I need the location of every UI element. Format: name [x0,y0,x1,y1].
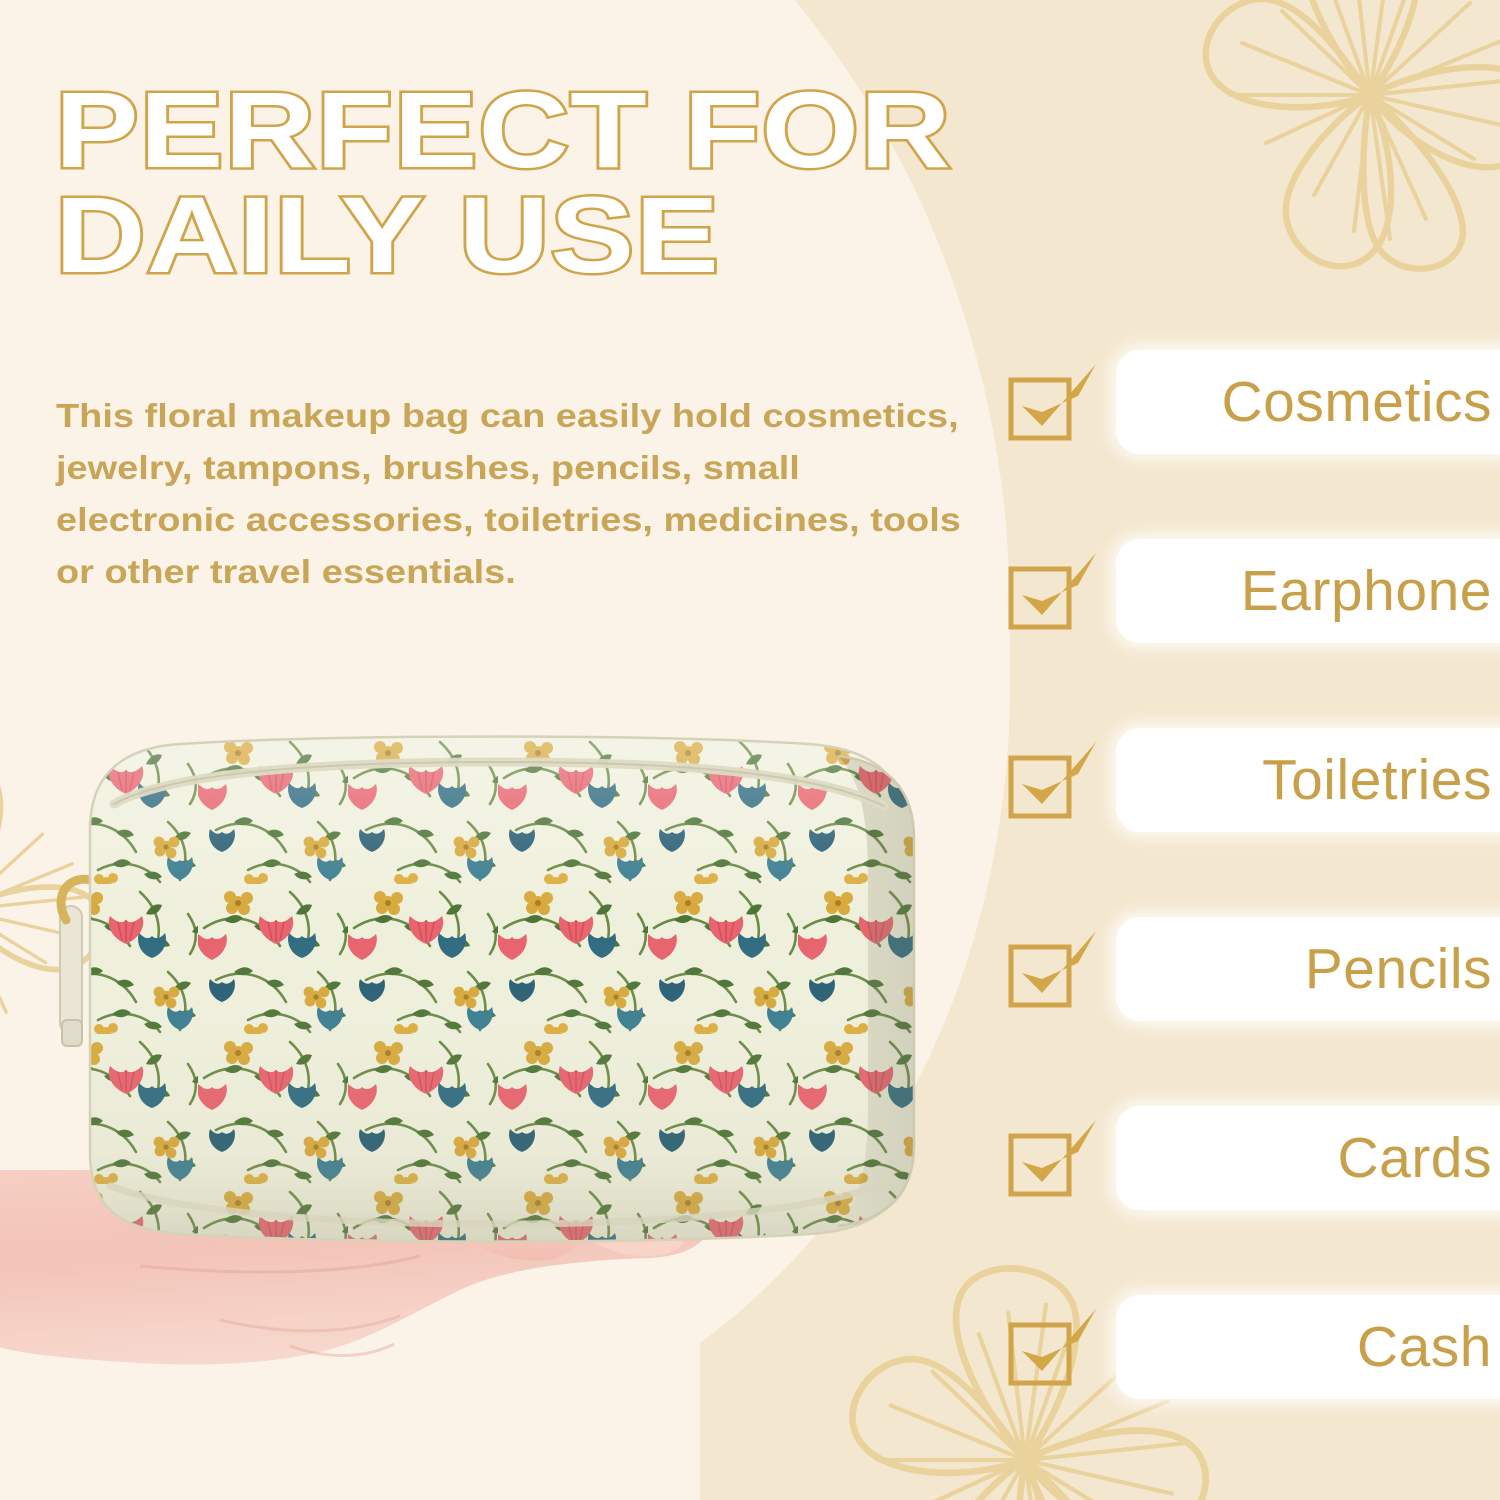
list-item-label: Pencils [1116,917,1500,1021]
product-photo [0,700,990,1500]
list-item[interactable]: Cosmetics [1008,344,1500,533]
makeup-bag [48,734,938,1244]
checked-checkbox-icon[interactable] [1008,551,1100,631]
feature-pill[interactable]: Pencils [1116,917,1500,1021]
bag-body [48,734,938,1244]
checked-checkbox-icon[interactable] [1008,1307,1100,1387]
feature-pill[interactable]: Cosmetics [1116,350,1500,454]
checked-checkbox-icon[interactable] [1008,1118,1100,1198]
list-item[interactable]: Cash [1008,1289,1500,1478]
list-item[interactable]: Cards [1008,1100,1500,1289]
description-text: This floral makeup bag can easily hold c… [56,390,976,599]
list-item-label: Cards [1116,1106,1500,1210]
feature-pill[interactable]: Cards [1116,1106,1500,1210]
checked-checkbox-icon[interactable] [1008,362,1100,442]
list-item[interactable]: Pencils [1008,911,1500,1100]
feature-pill[interactable]: Cash [1116,1295,1500,1399]
checked-checkbox-icon[interactable] [1008,740,1100,820]
product-marketing-image: PERFECT FOR DAILY USE This floral makeup… [0,0,1500,1500]
checked-checkbox-icon[interactable] [1008,929,1100,1009]
list-item-label: Toiletries [1116,728,1500,832]
list-item-label: Cosmetics [1116,350,1500,454]
list-item-label: Earphone [1116,539,1500,643]
feature-pill[interactable]: Earphone [1116,539,1500,643]
page-title: PERFECT FOR DAILY USE [55,78,1203,288]
list-item-label: Cash [1116,1295,1500,1399]
feature-checklist: Cosmetics Earphone Toiletr [1008,344,1500,1478]
list-item[interactable]: Toiletries [1008,722,1500,911]
list-item[interactable]: Earphone [1008,533,1500,722]
feature-pill[interactable]: Toiletries [1116,728,1500,832]
